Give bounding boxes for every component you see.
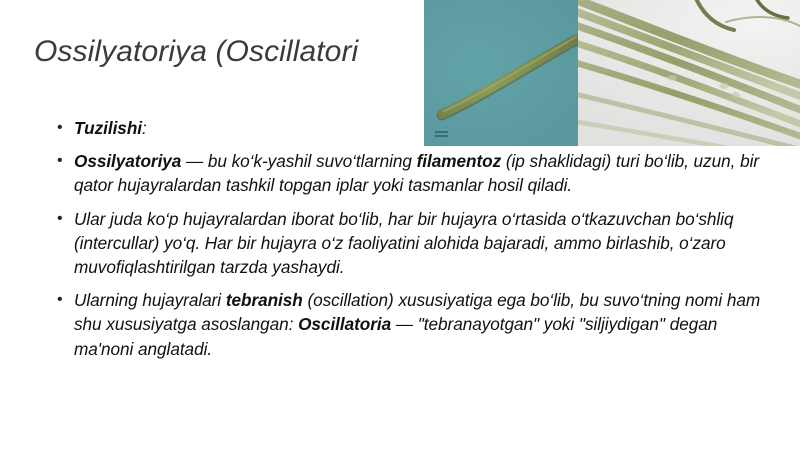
bullet-marker-icon: •	[56, 116, 74, 140]
bullet-text-hujayralar: Ular juda ko‘p hujayralardan iborat bo‘l…	[74, 207, 770, 280]
bullet-marker-icon: •	[56, 207, 74, 231]
list-item: • Ular juda ko‘p hujayralardan iborat bo…	[56, 207, 770, 280]
micrograph-filaments	[576, 0, 800, 146]
micrograph-filament	[424, 0, 578, 146]
bullet-marker-icon: •	[56, 288, 74, 312]
bullet-marker-icon: •	[56, 149, 74, 173]
scale-bar	[435, 131, 448, 133]
oscillatoria-filaments-pale-micrograph	[576, 0, 800, 146]
list-item: • Ossilyatoriya — bu ko‘k-yashil suvo‘tl…	[56, 149, 770, 197]
slide-canvas: Ossilyatoriya (Oscillatori • Tuzilishi: …	[0, 0, 800, 449]
bullet-list: • Tuzilishi: • Ossilyatoriya — bu ko‘k-y…	[56, 116, 770, 361]
list-item: • Ularning hujayralari tebranish (oscill…	[56, 288, 770, 361]
bullet-text-tebranish: Ularning hujayralari tebranish (oscillat…	[74, 288, 770, 361]
bullet-text-ossilyatoriya: Ossilyatoriya — bu ko‘k-yashil suvo‘tlar…	[74, 149, 770, 197]
oscillatoria-filament-teal-micrograph	[424, 0, 578, 146]
